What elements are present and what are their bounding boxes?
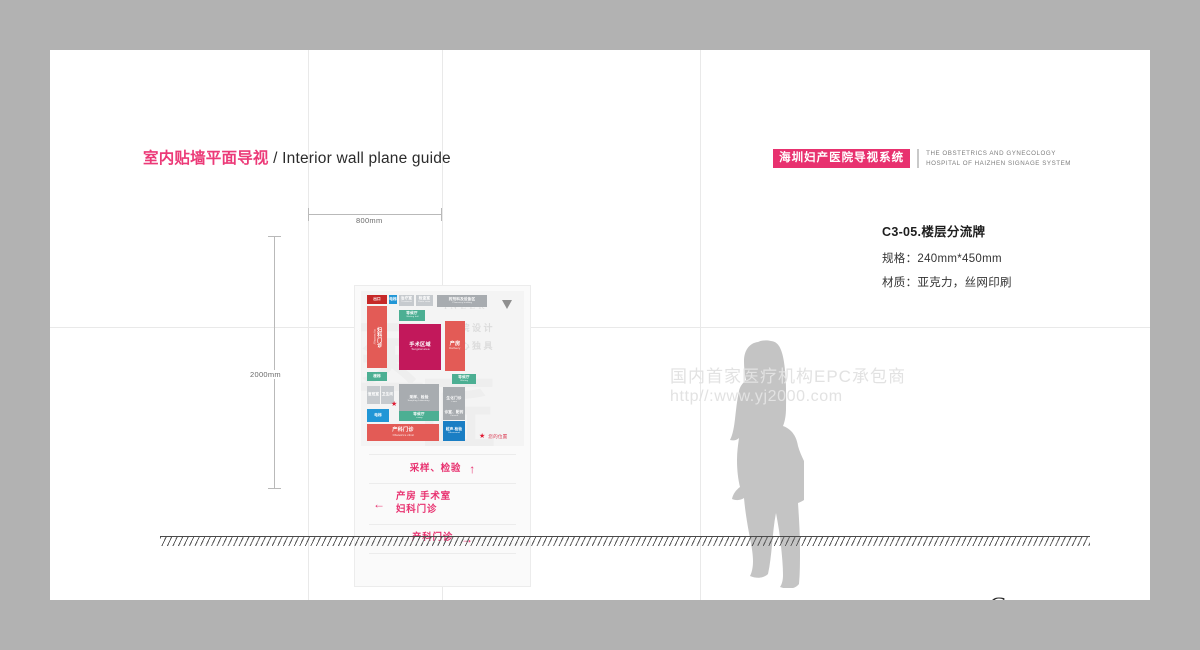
north-arrow-icon [502,300,512,309]
map-block-exam: 检查室Exam room [416,295,433,306]
spec-size: 规格：240mm*450mm [882,250,1012,266]
brand-en-line1: THE OBSTETRICS AND GYNECOLOGY [926,149,1071,159]
section-mark: C | 导视系统 [959,594,1088,600]
map-block-consult: 诊室、配药Consult [443,409,465,420]
you-are-here-marker: ★ [391,401,397,408]
map-block-exit: 出口 [367,295,387,304]
map-block-duty-room: 值班室 [367,386,380,404]
guide-line-vertical [308,50,309,600]
arrow-left-icon: ← [373,497,385,511]
map-block-delivery: 产房Delivery [445,321,465,371]
map-block-waiting-hall: 等候厅Waiting hall [399,310,425,321]
section-letter: C [989,594,1006,600]
direction-row[interactable]: ← 产房 手术室 妇科门诊 [369,484,516,525]
page-title: 室内贴墙平面导视 / Interior wall plane guide [143,146,451,168]
spec-block: C3-05.楼层分流牌 规格：240mm*450mm 材质：亚克力，丝网印刷 [882,221,1012,298]
brand-name-cn: 海圳妇产医院导视系统 [773,149,910,168]
floor-plan-map[interactable]: 医 匠 INEER 医院设计 匠心独具 出口 电梯 治疗室Treatment 检… [361,291,524,446]
ground-hatching [160,537,1090,546]
page-title-cn: 室内贴墙平面导视 [143,150,269,167]
section-label-cn: 导视系统 [1018,599,1088,600]
map-block-treatment: 治疗室Treatment [399,295,414,306]
spec-material: 材质：亚克力，丝网印刷 [882,274,1012,290]
dimension-width-tick-right [441,208,442,221]
guide-line-vertical [700,50,701,600]
footer-right: C | 导视系统 SIGNAGE SYSTEM [959,594,1088,600]
map-block-lift-2: 电梯 [367,409,389,422]
direction-text: 采样、检验 [410,463,462,476]
page-title-en: Interior wall plane guide [282,150,451,167]
map-legend: ★ 您的位置 [479,433,507,440]
map-block-pharmacy: 药剂科及设备区Pharmacy building [437,295,487,307]
map-block-obstetrics-clinic: 产科门诊Obstetrics clinic [367,424,439,441]
brand-name-en: THE OBSTETRICS AND GYNECOLOGY HOSPITAL O… [926,149,1071,168]
map-block-lobby: 等候厅Lobby [399,411,439,421]
brand-divider [917,149,919,168]
direction-text: 产房 手术室 妇科门诊 [396,491,451,517]
map-block-surgical-area: 手术区域Surgical area [399,324,441,370]
map-block-sampling-lab: 采样、检验Sampling Laboratory [399,384,439,414]
direction-row[interactable]: 采样、检验 ↑ [369,454,516,484]
page-title-separator: / [269,150,283,167]
legend-star-icon: ★ [479,433,485,440]
person-silhouette [718,338,804,588]
map-block-stairs: 楼梯 [367,372,387,381]
dimension-height-label: 2000mm [246,370,285,379]
map-block-lift: 电梯 [389,295,397,304]
brand-en-line2: HOSPITAL OF HAIZHEN SIGNAGE SYSTEM [926,159,1071,169]
map-block-gynecology: 妇科门诊Gynecology [367,306,387,368]
page-canvas: 室内贴墙平面导视 / Interior wall plane guide 海圳妇… [50,50,1150,600]
dimension-height-line [274,236,275,489]
arrow-up-icon: ↑ [469,462,475,476]
dimension-height-tick-bottom [268,488,281,489]
legend-label: 您的位置 [488,434,507,440]
dimension-width-line [308,214,442,215]
dimension-width-tick-left [308,208,309,221]
map-block-ultrasound: 超声.检验Ultrasound [443,421,465,441]
dimension-height-tick-top [268,236,281,237]
spec-code-title: C3-05.楼层分流牌 [882,221,1012,240]
dimension-width-label: 800mm [352,216,387,225]
map-block-waiting-2: 等候厅Waiting [452,374,476,384]
brand-lockup: 海圳妇产医院导视系统 THE OBSTETRICS AND GYNECOLOGY… [773,149,1071,168]
guide-line-horizontal [50,327,1150,328]
